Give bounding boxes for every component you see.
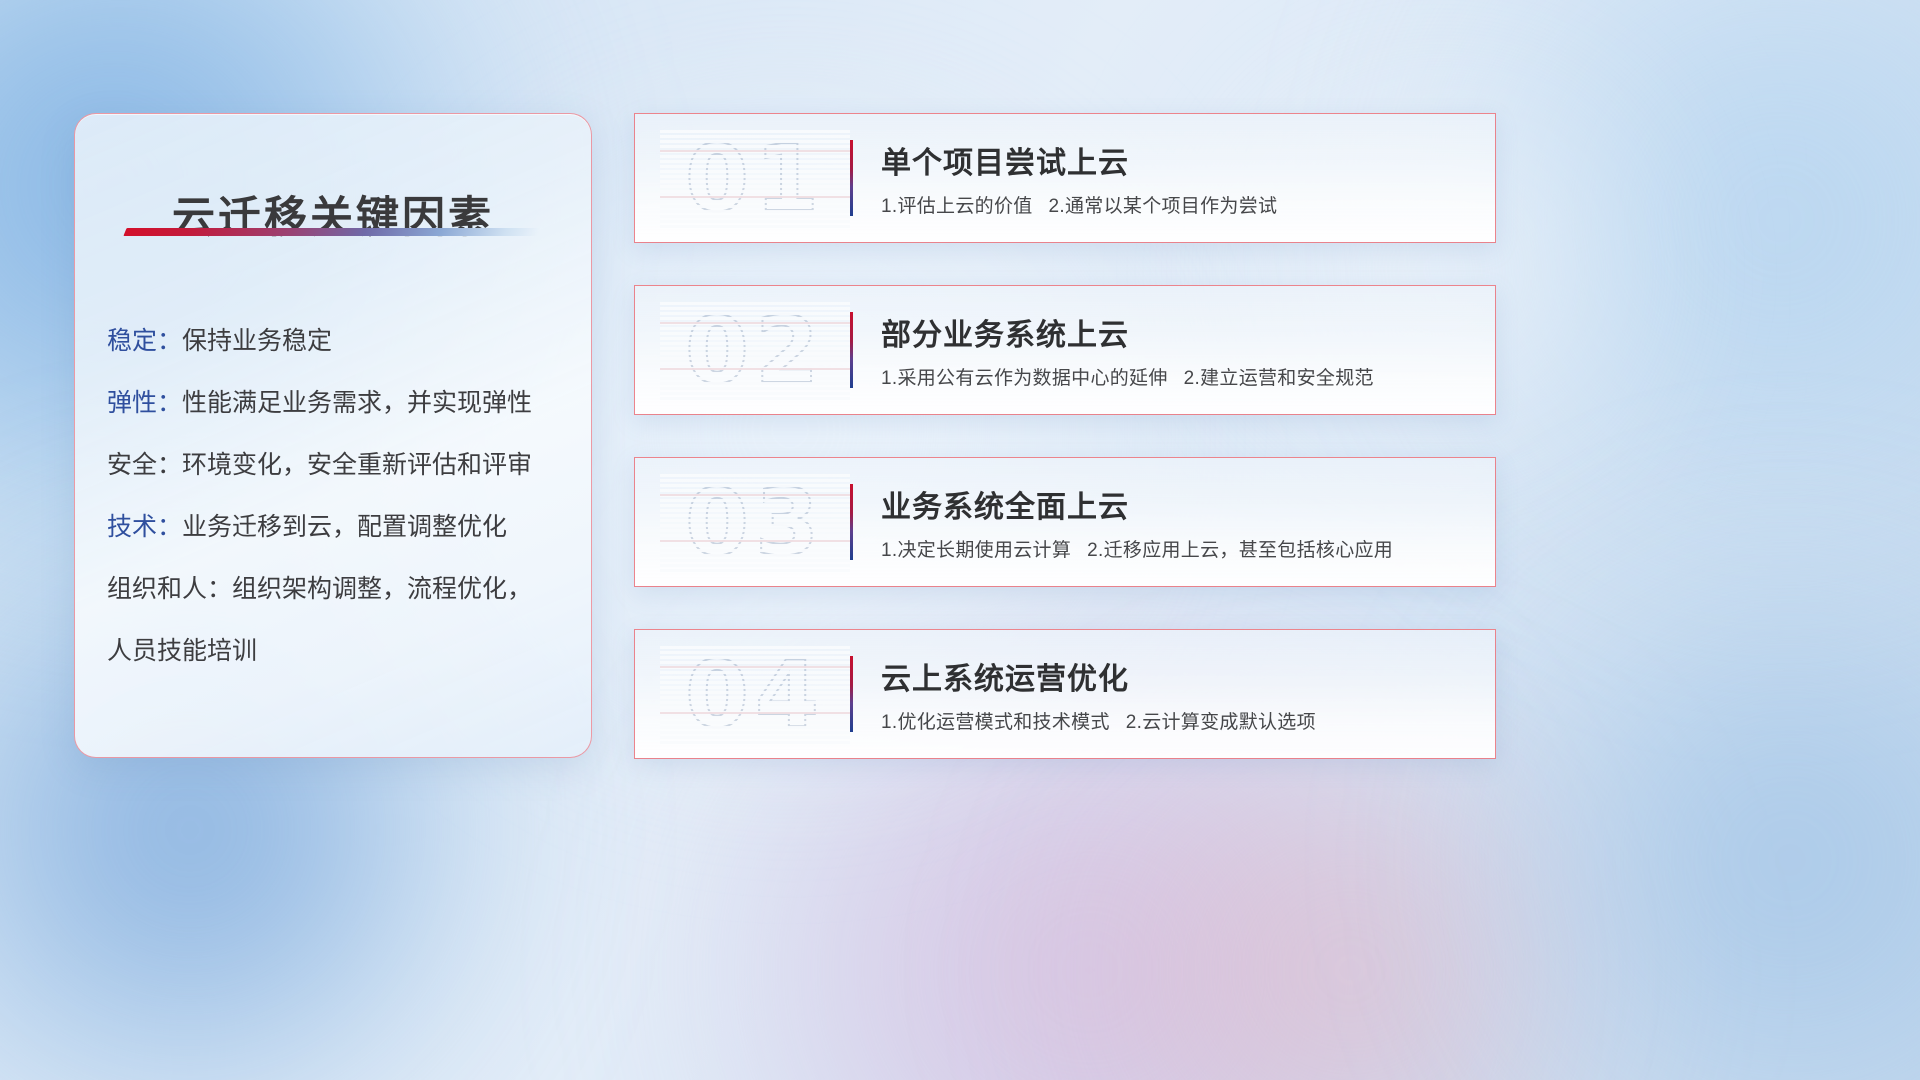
stage-number-watermark: 04 bbox=[660, 644, 850, 744]
accent-divider bbox=[850, 484, 853, 560]
key-factor-label: 稳定： bbox=[107, 327, 182, 355]
stage-description-item-1: 1.决定长期使用云计算 bbox=[881, 540, 1071, 561]
key-factor-text: 环境变化，安全重新评估和评审 bbox=[182, 451, 532, 479]
stage-description-item-1: 1.优化运营模式和技术模式 bbox=[881, 712, 1110, 733]
key-factor-label: 技术： bbox=[107, 513, 182, 541]
accent-divider bbox=[850, 140, 853, 216]
stage-number-text: 01 bbox=[685, 125, 825, 232]
stage-description-item-2: 2.建立运营和安全规范 bbox=[1184, 368, 1374, 389]
stage-number-watermark: 03 bbox=[660, 472, 850, 572]
stage-description: 1.决定长期使用云计算2.迁移应用上云，甚至包括核心应用 bbox=[881, 535, 1475, 562]
accent-divider bbox=[850, 312, 853, 388]
stage-text-block: 云上系统运营优化1.优化运营模式和技术模式2.云计算变成默认选项 bbox=[881, 654, 1495, 734]
stage-number-text: 03 bbox=[685, 469, 825, 576]
key-factor-line: 稳定：保持业务稳定 bbox=[107, 310, 573, 372]
stage-title: 部分业务系统上云 bbox=[881, 310, 1475, 354]
stage-number-watermark: 01 bbox=[660, 128, 850, 228]
stage-description-item-1: 1.采用公有云作为数据中心的延伸 bbox=[881, 368, 1168, 389]
key-factors-panel: 云迁移关键因素 稳定：保持业务稳定弹性：性能满足业务需求，并实现弹性安全：环境变… bbox=[74, 113, 592, 758]
stage-description: 1.采用公有云作为数据中心的延伸2.建立运营和安全规范 bbox=[881, 363, 1475, 390]
stage-title: 单个项目尝试上云 bbox=[881, 138, 1475, 182]
key-factor-label: 弹性： bbox=[107, 389, 182, 417]
key-factor-line: 人员技能培训 bbox=[107, 620, 573, 682]
key-factor-line: 安全：环境变化，安全重新评估和评审 bbox=[107, 434, 573, 496]
key-factor-line: 技术：业务迁移到云，配置调整优化 bbox=[107, 496, 573, 558]
stage-description-item-1: 1.评估上云的价值 bbox=[881, 196, 1033, 217]
stage-number-text: 04 bbox=[685, 641, 825, 748]
stage-text-block: 业务系统全面上云1.决定长期使用云计算2.迁移应用上云，甚至包括核心应用 bbox=[881, 482, 1495, 562]
cloud-migration-stages: 01单个项目尝试上云1.评估上云的价值2.通常以某个项目作为尝试02部分业务系统… bbox=[634, 113, 1496, 759]
stage-card[interactable]: 02部分业务系统上云1.采用公有云作为数据中心的延伸2.建立运营和安全规范 bbox=[634, 285, 1496, 415]
key-factors-list: 稳定：保持业务稳定弹性：性能满足业务需求，并实现弹性安全：环境变化，安全重新评估… bbox=[107, 310, 573, 682]
stage-description-item-2: 2.通常以某个项目作为尝试 bbox=[1049, 196, 1278, 217]
key-factor-text: 人员技能培训 bbox=[107, 637, 257, 665]
stage-description-item-2: 2.迁移应用上云，甚至包括核心应用 bbox=[1087, 540, 1393, 561]
stage-number-text: 02 bbox=[685, 297, 825, 404]
stage-description: 1.优化运营模式和技术模式2.云计算变成默认选项 bbox=[881, 707, 1475, 734]
stage-card[interactable]: 04云上系统运营优化1.优化运营模式和技术模式2.云计算变成默认选项 bbox=[634, 629, 1496, 759]
stage-description-item-2: 2.云计算变成默认选项 bbox=[1126, 712, 1316, 733]
stage-text-block: 单个项目尝试上云1.评估上云的价值2.通常以某个项目作为尝试 bbox=[881, 138, 1495, 218]
stage-title: 业务系统全面上云 bbox=[881, 482, 1475, 526]
stage-text-block: 部分业务系统上云1.采用公有云作为数据中心的延伸2.建立运营和安全规范 bbox=[881, 310, 1495, 390]
key-factor-line: 组织和人：组织架构调整，流程优化， bbox=[107, 558, 573, 620]
stage-title: 云上系统运营优化 bbox=[881, 654, 1475, 698]
key-factor-text: 组织架构调整，流程优化， bbox=[232, 575, 532, 603]
key-factor-label: 组织和人： bbox=[107, 575, 232, 603]
stage-card[interactable]: 01单个项目尝试上云1.评估上云的价值2.通常以某个项目作为尝试 bbox=[634, 113, 1496, 243]
accent-divider bbox=[850, 656, 853, 732]
key-factor-text: 保持业务稳定 bbox=[182, 327, 332, 355]
stage-description: 1.评估上云的价值2.通常以某个项目作为尝试 bbox=[881, 191, 1475, 218]
key-factor-text: 性能满足业务需求，并实现弹性 bbox=[182, 389, 532, 417]
key-factor-line: 弹性：性能满足业务需求，并实现弹性 bbox=[107, 372, 573, 434]
key-factor-label: 安全： bbox=[107, 451, 182, 479]
title-underline-accent bbox=[123, 228, 540, 236]
stage-card[interactable]: 03业务系统全面上云1.决定长期使用云计算2.迁移应用上云，甚至包括核心应用 bbox=[634, 457, 1496, 587]
stage-number-watermark: 02 bbox=[660, 300, 850, 400]
key-factor-text: 业务迁移到云，配置调整优化 bbox=[182, 513, 507, 541]
